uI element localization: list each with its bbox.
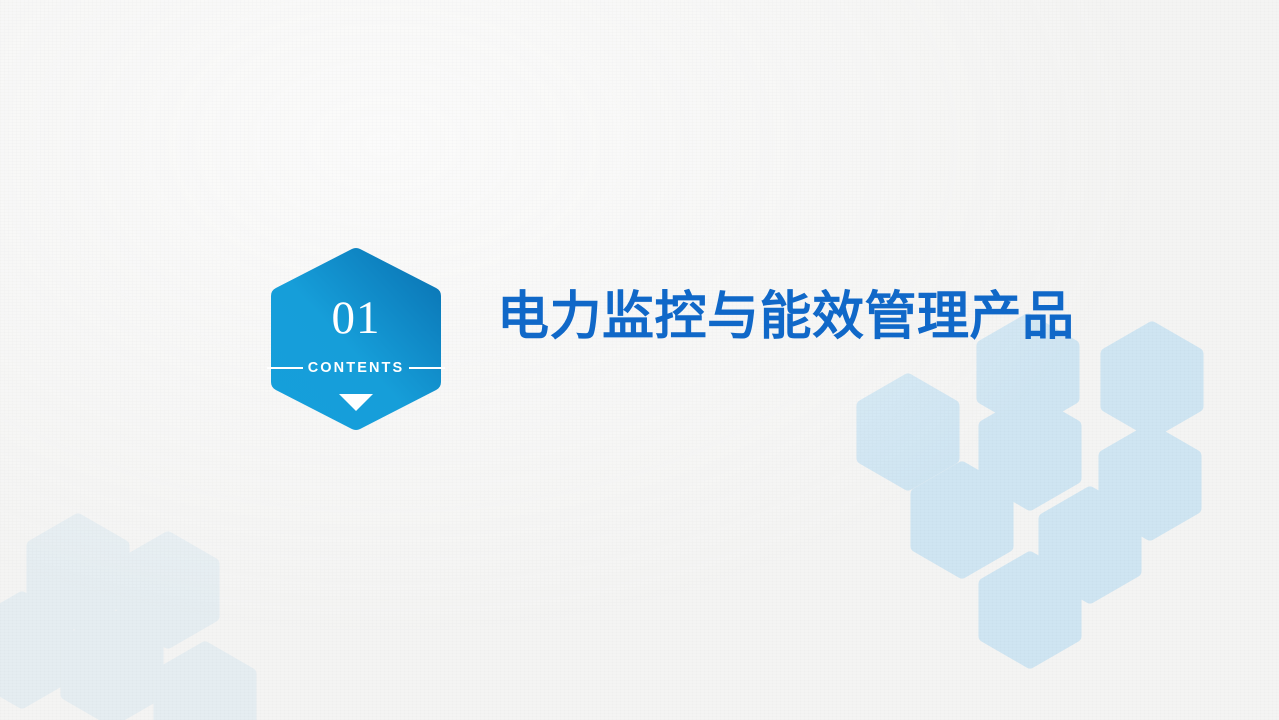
badge-rule-right <box>409 367 445 369</box>
badge-number: 01 <box>266 295 446 342</box>
badge-caption: CONTENTS <box>303 360 410 376</box>
hexagon-shape <box>1107 328 1197 432</box>
hexagon-shape <box>0 598 67 702</box>
hexagon-cluster-left <box>0 520 250 720</box>
slide-title: 电力监控与能效管理产品 <box>497 287 1075 347</box>
hexagon-cluster-right <box>863 320 1197 662</box>
triangle-down-icon <box>339 394 373 411</box>
presentation-slide: 01 CONTENTS 电力监控与能效管理产品 <box>0 0 1279 720</box>
hexagon-shape <box>917 468 1007 572</box>
hexagon-shape <box>1105 430 1195 534</box>
hexagon-shape <box>67 616 157 720</box>
hexagon-shape <box>985 558 1075 662</box>
badge-rule-left <box>267 367 303 369</box>
badge-content: 01 CONTENTS <box>266 247 446 431</box>
badge-caption-row: CONTENTS <box>267 359 445 377</box>
hexagon-shape <box>863 380 953 484</box>
hexagon-shape <box>160 648 250 720</box>
contents-badge[interactable]: 01 CONTENTS <box>266 247 446 431</box>
hexagon-decoration-layer <box>0 0 1279 720</box>
